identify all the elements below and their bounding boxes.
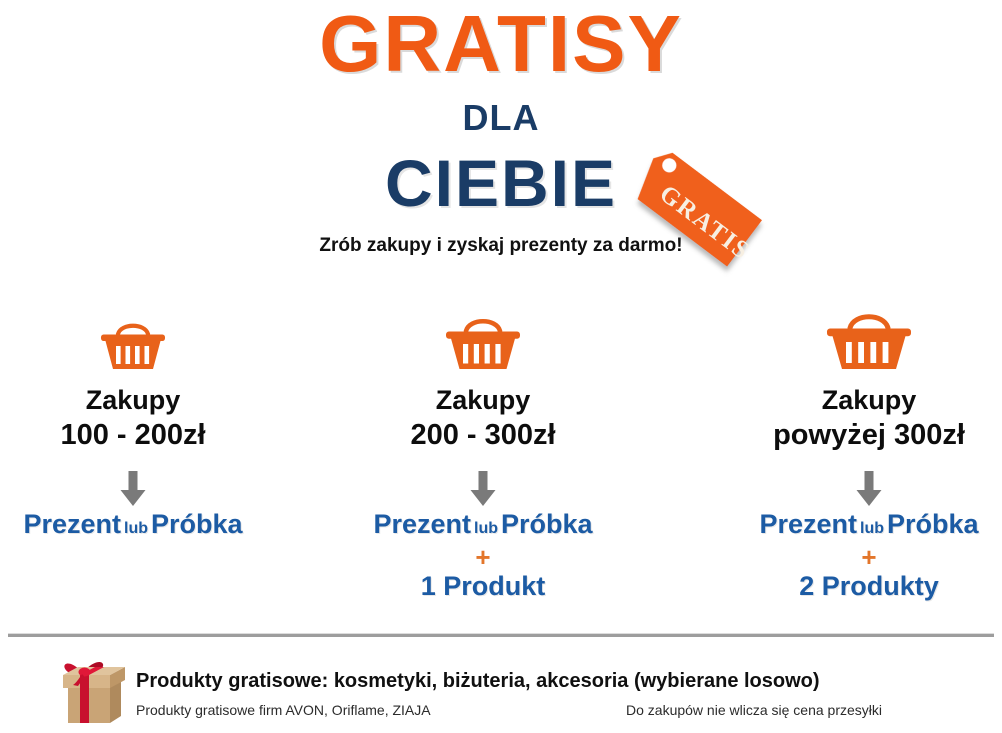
- tier-range: 100 - 200zł: [8, 420, 258, 452]
- promo-banner: GRATISY DLA CIEBIE Zrób zakupy i zyskaj …: [0, 0, 1002, 733]
- tier-reward-1: PrezentlubPróbka: [8, 510, 258, 540]
- tier-extra-2: 1 Produkt: [358, 572, 608, 602]
- page-subtitle-large: CIEBIE: [0, 150, 1002, 216]
- tier-label: Zakupy: [8, 386, 258, 416]
- tier-column-1: Zakupy 100 - 200zł PrezentlubPróbka: [8, 312, 258, 539]
- arrow-slot-2: [358, 468, 608, 510]
- tier-column-3: Zakupy powyżej 300zł PrezentlubPróbka + …: [740, 312, 998, 602]
- basket-icon-slot-2: [358, 312, 608, 374]
- reward-gift: Prezent: [23, 509, 121, 539]
- reward-conjunction: lub: [121, 520, 151, 537]
- shopping-basket-icon: [441, 312, 525, 374]
- reward-sample: Próbka: [501, 509, 593, 539]
- arrow-down-icon: [469, 470, 497, 508]
- tier-reward-2: PrezentlubPróbka: [358, 510, 608, 540]
- tier-label: Zakupy: [740, 386, 998, 416]
- tier-label: Zakupy: [358, 386, 608, 416]
- footer-note-brands: Produkty gratisowe firm AVON, Oriflame, …: [136, 702, 431, 718]
- divider-line: [8, 634, 994, 637]
- basket-icon-slot-1: [8, 312, 258, 374]
- reward-conjunction: lub: [857, 520, 887, 537]
- arrow-down-icon: [855, 470, 883, 508]
- gratis-tag-badge: GRATIS: [612, 152, 782, 277]
- tier-extra-3: 2 Produkty: [740, 572, 998, 602]
- section-divider: [8, 633, 994, 638]
- arrow-slot-3: [740, 468, 998, 510]
- tier-column-2: Zakupy 200 - 300zł PrezentlubPróbka + 1 …: [358, 312, 608, 602]
- tier-range: powyżej 300zł: [740, 420, 998, 452]
- tier-reward-3: PrezentlubPróbka: [740, 510, 998, 540]
- footer-note-shipping: Do zakupów nie wlicza się cena przesyłki: [626, 702, 882, 718]
- page-tagline: Zrób zakupy i zyskaj prezenty za darmo!: [0, 236, 1002, 255]
- plus-icon: +: [358, 543, 608, 572]
- footer-headline: Produkty gratisowe: kosmetyki, biżuteria…: [136, 670, 820, 693]
- reward-gift: Prezent: [373, 509, 471, 539]
- reward-gift: Prezent: [759, 509, 857, 539]
- reward-conjunction: lub: [471, 520, 501, 537]
- plus-icon: +: [740, 543, 998, 572]
- page-title: GRATISY: [0, 4, 1002, 84]
- page-subtitle-small: DLA: [0, 100, 1002, 136]
- footer: Produkty gratisowe: kosmetyki, biżuteria…: [0, 646, 1002, 733]
- basket-icon-slot-3: [740, 312, 998, 374]
- reward-sample: Próbka: [887, 509, 979, 539]
- gift-box-icon: [48, 650, 134, 730]
- shopping-basket-icon: [96, 316, 170, 374]
- reward-sample: Próbka: [151, 509, 243, 539]
- arrow-down-icon: [119, 470, 147, 508]
- tier-range: 200 - 300zł: [358, 420, 608, 452]
- shopping-basket-icon: [822, 308, 916, 374]
- arrow-slot-1: [8, 468, 258, 510]
